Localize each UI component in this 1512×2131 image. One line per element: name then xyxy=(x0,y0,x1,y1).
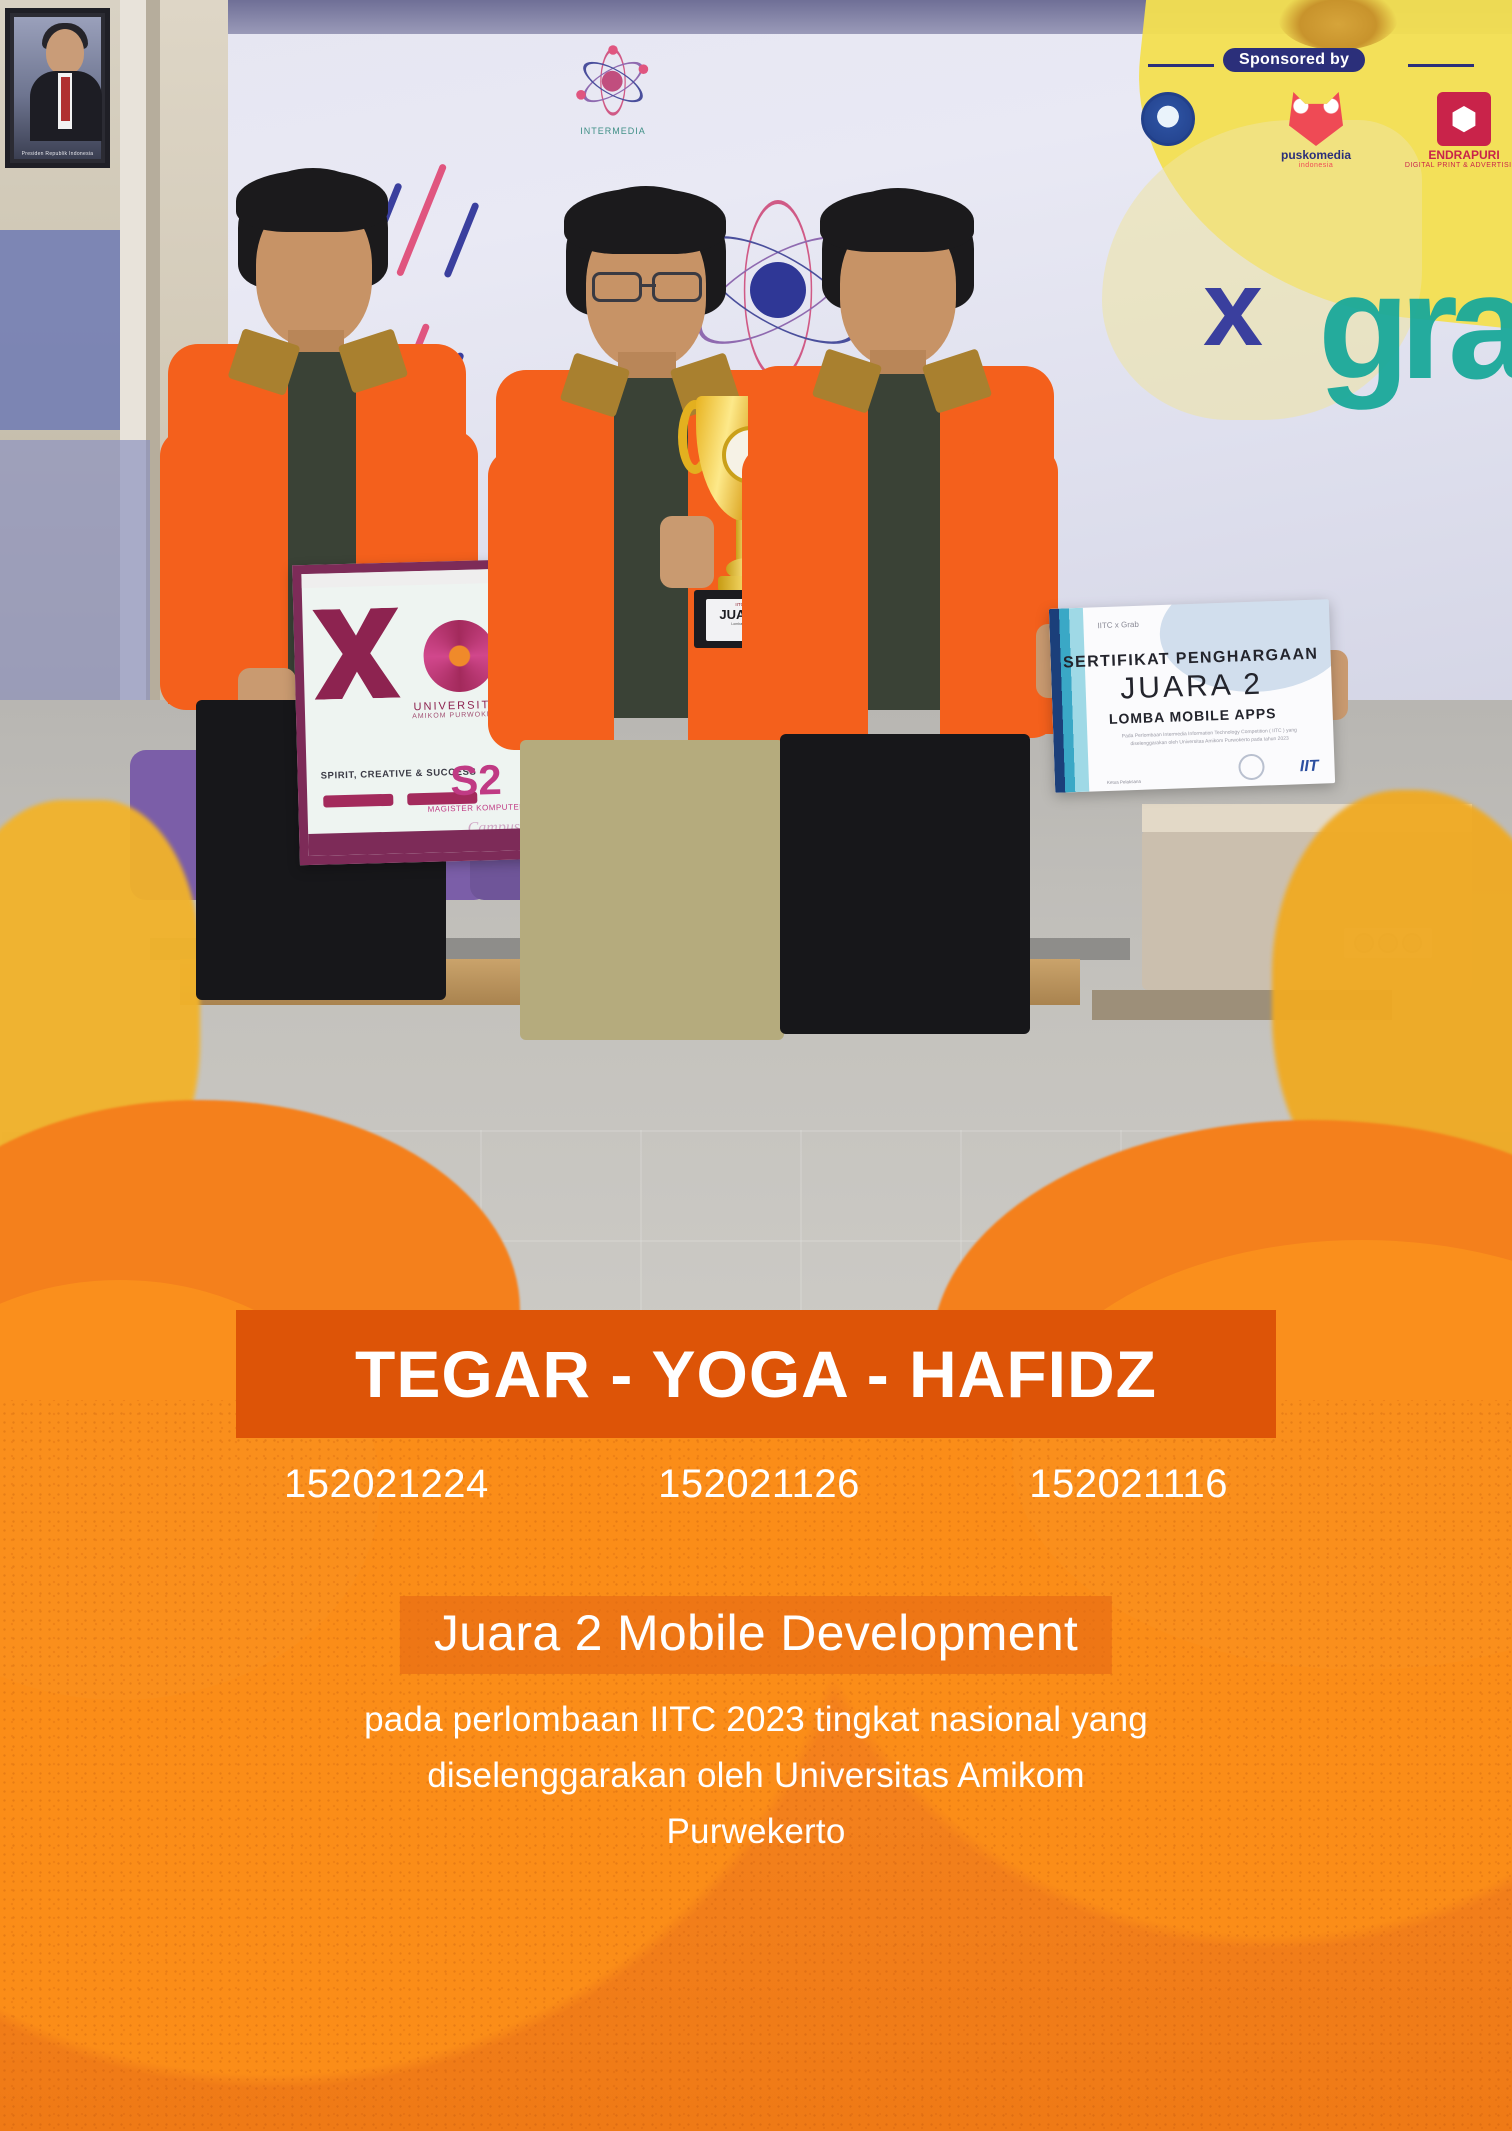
person-left-arm-left xyxy=(160,430,252,710)
glasses-bridge-icon xyxy=(640,284,656,287)
sponsored-by-label: Sponsored by xyxy=(1223,48,1365,72)
amikom-logo-icon xyxy=(423,619,497,693)
endrapuri-logo-icon: ⬢ xyxy=(1437,92,1491,146)
certificate-body-text: Pada Perlombaan Intermedia Information T… xyxy=(1103,726,1315,749)
achievement-poster: Presiden Republik Indonesia INTERMEDIA xyxy=(0,0,1512,2131)
poster-x-graphic xyxy=(312,608,400,700)
student-id-3: 152021116 xyxy=(1029,1462,1228,1507)
poster-program-code: S2 xyxy=(427,762,526,799)
person-right-hair-top xyxy=(820,190,974,252)
sponsor-divider xyxy=(1408,64,1474,67)
sponsor-puskomedia: puskomedia indonesia xyxy=(1256,92,1376,169)
achievement-description: pada perlombaan IITC 2023 tingkat nasion… xyxy=(0,1692,1512,1860)
portrait-head xyxy=(46,29,84,75)
award-certificate: IITC x Grab SERTIFIKAT PENGHARGAAN JUARA… xyxy=(1049,599,1335,793)
endrapuri-name: ENDRAPURI xyxy=(1404,148,1512,162)
puskomedia-name: puskomedia xyxy=(1256,148,1376,162)
certificate-signature-label: Ketua Pelaksana xyxy=(1107,779,1141,785)
names-banner: TEGAR - YOGA - HAFIDZ xyxy=(236,1310,1276,1438)
person-center-arm-left xyxy=(488,450,580,750)
student-id-2: 152021126 xyxy=(658,1462,860,1507)
student-id-1: 152021224 xyxy=(284,1462,489,1507)
glasses-icon xyxy=(592,272,642,302)
student-id-row: 152021224 152021126 152021116 xyxy=(236,1462,1276,1507)
glasses-icon xyxy=(652,272,702,302)
wall-blue-panel-lower xyxy=(0,440,150,700)
atom-icon xyxy=(579,48,646,115)
names-banner-text: TEGAR - YOGA - HAFIDZ xyxy=(355,1336,1157,1412)
certificate-iit-logo: IIT xyxy=(1300,758,1319,777)
intermedia-logo: INTERMEDIA xyxy=(558,40,668,130)
wall-blue-panel xyxy=(0,230,120,430)
achievement-bar: Juara 2 Mobile Development xyxy=(400,1596,1112,1674)
wall-portrait-frame: Presiden Republik Indonesia xyxy=(5,8,110,168)
atom-core xyxy=(750,262,806,318)
cross-symbol: x xyxy=(1203,245,1263,370)
portrait-tie xyxy=(61,77,70,121)
certificate-seal-icon xyxy=(1238,754,1265,781)
certificate-rank: JUARA 2 xyxy=(1051,665,1332,709)
poster-chip-1 xyxy=(323,794,393,808)
person-center-pants xyxy=(520,740,784,1040)
portrait-image xyxy=(14,17,101,159)
description-line-1: pada perlombaan IITC 2023 tingkat nasion… xyxy=(180,1692,1332,1748)
poster-program: S2 MAGISTER KOMPUTER xyxy=(427,762,526,817)
sponsor-logo-row: puskomedia indonesia ⬢ ENDRAPURI DIGITAL… xyxy=(1108,92,1512,172)
certificate-brand: IITC x Grab xyxy=(1097,620,1139,630)
decor-dash xyxy=(443,202,479,279)
portrait-caption: Presiden Republik Indonesia xyxy=(10,151,105,157)
poster-program-name: MAGISTER KOMPUTER xyxy=(428,802,526,814)
grab-wordmark: grab xyxy=(1318,240,1512,413)
decor-dash xyxy=(396,163,447,277)
achievement-title: Juara 2 Mobile Development xyxy=(434,1604,1078,1662)
endrapuri-sub: DIGITAL PRINT & ADVERTISING xyxy=(1404,162,1512,169)
person-right-arm-left xyxy=(742,446,834,738)
caption-panel: TEGAR - YOGA - HAFIDZ 152021224 15202112… xyxy=(0,1400,1512,2131)
sponsor-kampong xyxy=(1108,92,1228,148)
description-line-3: Purwekerto xyxy=(180,1804,1332,1860)
puskomedia-logo-icon xyxy=(1289,92,1343,146)
description-line-2: diselenggarakan oleh Universitas Amikom xyxy=(180,1748,1332,1804)
sponsor-divider xyxy=(1148,64,1214,67)
kampong-logo-icon xyxy=(1141,92,1195,146)
puskomedia-sub: indonesia xyxy=(1256,162,1376,169)
person-center-hair-top xyxy=(564,188,726,254)
person-left-hair-top xyxy=(236,170,388,232)
team-photo: Presiden Republik Indonesia INTERMEDIA xyxy=(0,0,1512,1460)
intermedia-logo-label: INTERMEDIA xyxy=(558,126,668,136)
poster-footer-strip xyxy=(308,828,540,856)
sponsor-endrapuri: ⬢ ENDRAPURI DIGITAL PRINT & ADVERTISING xyxy=(1404,92,1512,169)
person-right-pants xyxy=(780,734,1030,1034)
